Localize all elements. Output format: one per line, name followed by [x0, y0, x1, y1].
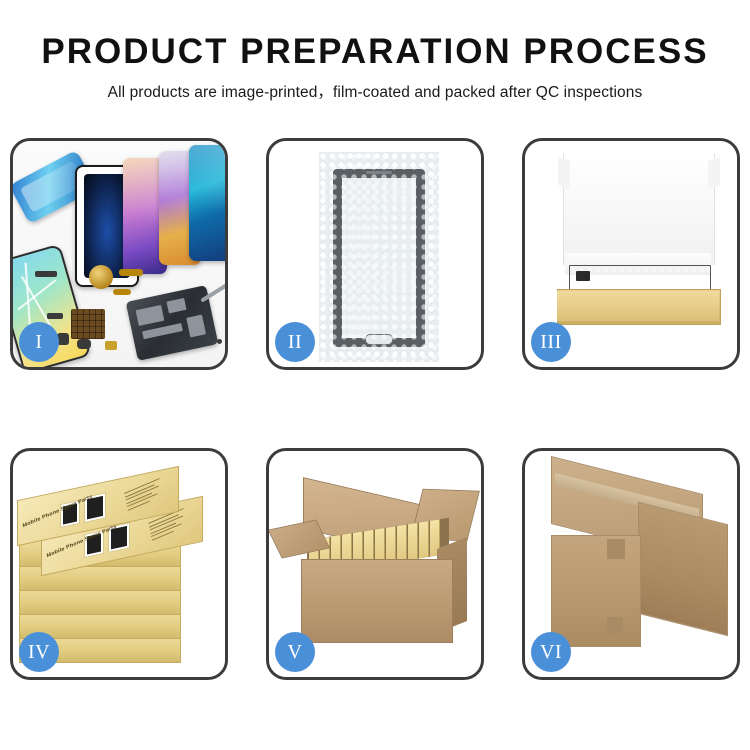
- phone-blue-icon: [189, 145, 225, 261]
- box-label-text-top: Mobile Phone Spare Parts: [22, 494, 93, 529]
- phone-parts-photo: I: [13, 141, 225, 367]
- part-flex-cable-2-icon: [113, 289, 131, 295]
- step-badge-1: I: [19, 322, 59, 362]
- boxed-screen-photo: III: [525, 141, 737, 367]
- step-badge-5: V: [275, 632, 315, 672]
- open-carton-photo: V: [269, 451, 481, 677]
- phone-glass-panel-icon: [333, 169, 425, 347]
- stacked-boxes-photo: Mobile Phone Spare Parts Mobile Phone Sp…: [13, 451, 225, 677]
- box-lid-icon: [563, 153, 715, 265]
- process-step-panel-3: III: [522, 138, 740, 370]
- part-button-icon: [47, 313, 63, 319]
- page-title: PRODUCT PREPARATION PROCESS: [0, 34, 750, 71]
- part-screw-icon: [217, 339, 222, 344]
- carton-tab-upper-icon: [607, 539, 625, 559]
- process-step-grid: I II III: [10, 138, 740, 683]
- part-connector-icon: [35, 271, 57, 277]
- bubble-wrapped-screen-photo: II: [269, 141, 481, 367]
- carton-right-face-icon: [638, 502, 728, 636]
- page-subtitle: All products are image-printed，film-coat…: [0, 80, 750, 102]
- process-step-panel-4: Mobile Phone Spare Parts Mobile Phone Sp…: [10, 448, 228, 680]
- part-vibrator-icon: [77, 339, 91, 349]
- process-step-panel-5: V: [266, 448, 484, 680]
- step-badge-2: II: [275, 322, 315, 362]
- carton-tab-lower-icon: [607, 617, 623, 635]
- process-step-panel-6: VI: [522, 448, 740, 680]
- carton-front-icon: [301, 559, 453, 643]
- kraft-box-layer: [19, 587, 181, 615]
- part-flex-cable-icon: [119, 269, 143, 276]
- kraft-box-front-icon: [557, 291, 719, 321]
- carton-left-face-icon: [551, 535, 641, 647]
- step-badge-6: VI: [531, 632, 571, 672]
- chip-array-icon: [71, 309, 105, 339]
- sealed-carton-photo: VI: [525, 451, 737, 677]
- step-badge-4: IV: [19, 632, 59, 672]
- step-badge-3: III: [531, 322, 571, 362]
- header: PRODUCT PREPARATION PROCESS All products…: [0, 0, 750, 102]
- product-preparation-infographic: PRODUCT PREPARATION PROCESS All products…: [0, 0, 750, 750]
- process-step-panel-2: II: [266, 138, 484, 370]
- bubble-wrap-icon: [319, 152, 439, 362]
- part-gold-contact-icon: [105, 341, 117, 350]
- speaker-coil-icon: [89, 265, 113, 289]
- process-step-panel-1: I: [10, 138, 228, 370]
